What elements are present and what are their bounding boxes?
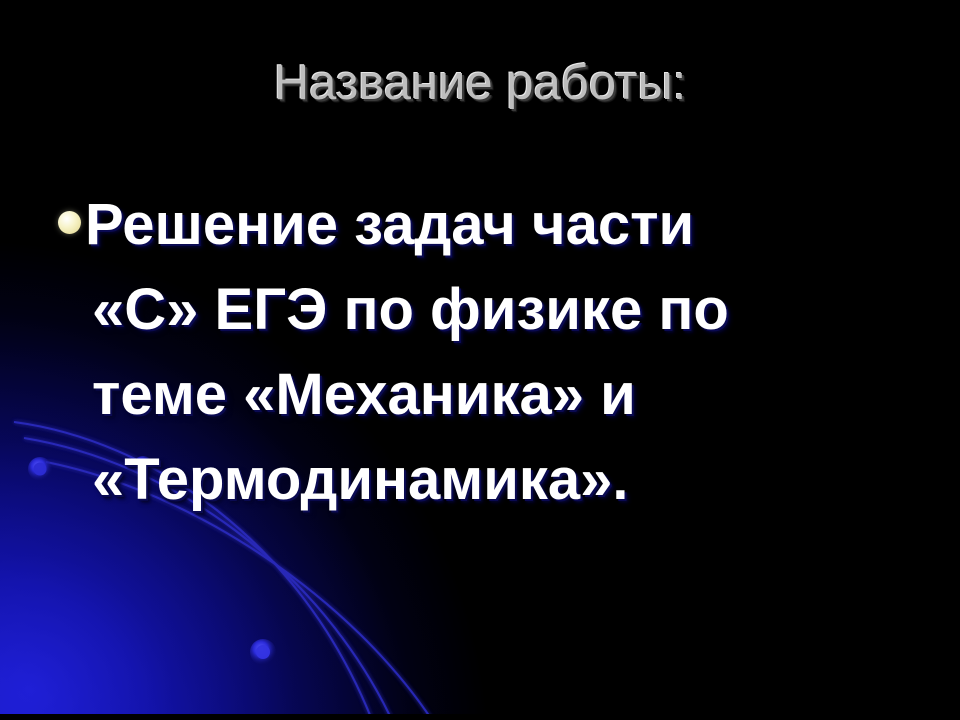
- page-title: Название работы:: [0, 58, 960, 109]
- body-text-block: Решение задач части «С» ЕГЭ по физике по…: [58, 182, 906, 522]
- slide-content: Название работы: Решение задач части «С»…: [0, 0, 960, 720]
- body-line-3: теме «Механика» и: [58, 352, 906, 437]
- body-line-4: «Термодинамика».: [58, 437, 906, 522]
- bullet-list-item: Решение задач части: [58, 182, 906, 267]
- presentation-slide: Название работы: Решение задач части «С»…: [0, 0, 960, 720]
- body-line-2: «С» ЕГЭ по физике по: [58, 267, 906, 352]
- bullet-icon: [58, 211, 81, 234]
- body-line-1: Решение задач части: [85, 182, 906, 267]
